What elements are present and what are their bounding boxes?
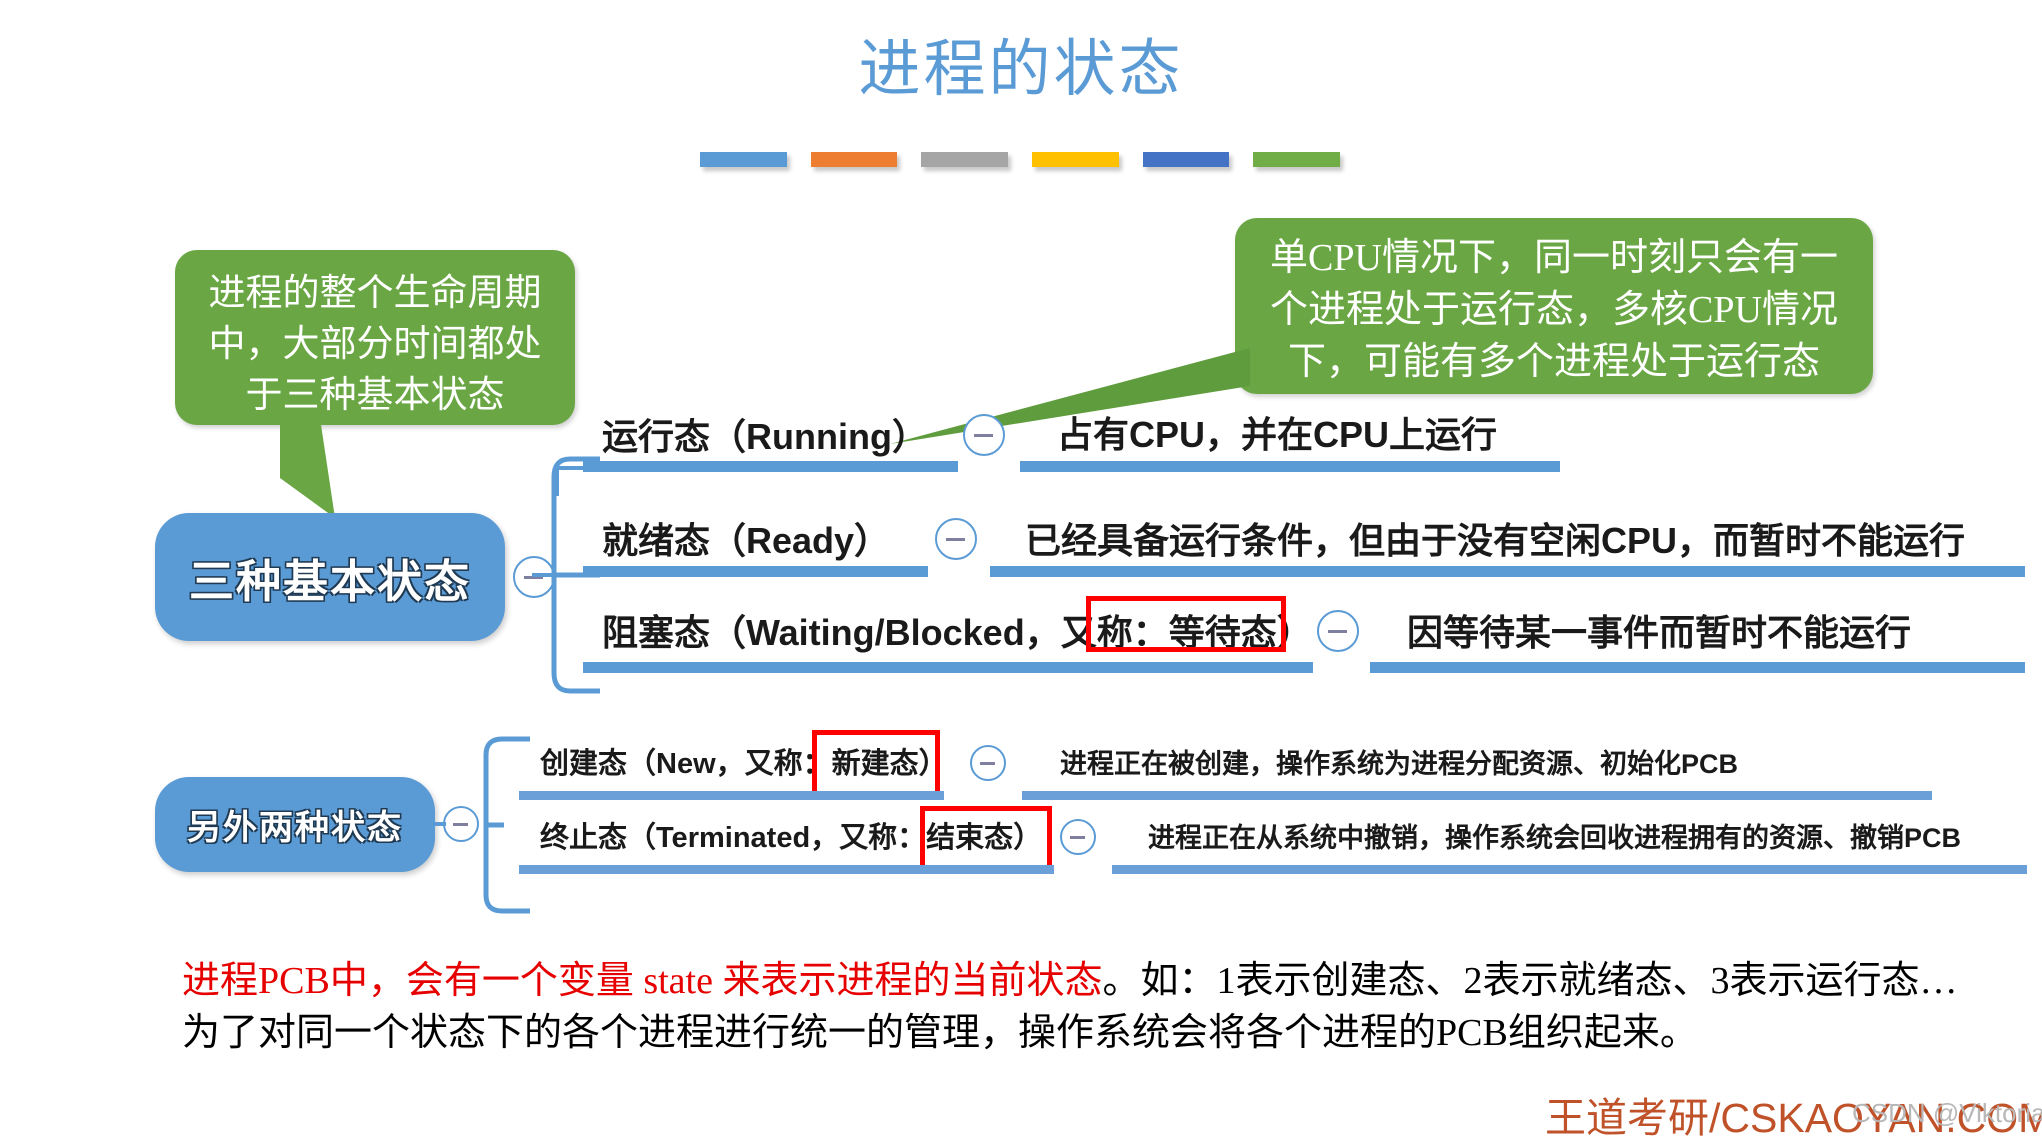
highlight-box-terminated-alias xyxy=(920,806,1052,872)
collapse-minus-icon-running[interactable] xyxy=(963,414,1005,456)
branch-description-blocked: 因等待某一事件而暂时不能运行 xyxy=(1407,604,1911,656)
highlight-box-new-alias xyxy=(812,730,940,796)
branch-underline-terminated-desc xyxy=(1112,865,2027,874)
collapse-minus-icon-blocked[interactable] xyxy=(1317,610,1359,652)
branch-underline-blocked-desc xyxy=(1370,662,2025,673)
branch-description-terminated: 进程正在从系统中撤销，操作系统会回收进程拥有的资源、撤销PCB xyxy=(1148,816,1961,855)
branch-underline-ready xyxy=(583,566,928,577)
bar-orange xyxy=(811,152,898,167)
branch-underline-ready-desc xyxy=(990,566,2025,577)
branch-label-terminated-prefix: 终止态（Terminated，又称： xyxy=(540,822,926,854)
footer-watermark: CSDN @Viktoriae xyxy=(1852,1098,2042,1129)
branch-underline-running-desc xyxy=(1020,461,1560,472)
highlight-box-waiting-alias xyxy=(1086,596,1286,652)
callout-left: 进程的整个生命周期中，大部分时间都处于三种基本状态 xyxy=(175,250,575,425)
root-node-other-two-states[interactable]: 另外两种状态 xyxy=(155,777,435,872)
bar-blue-dark xyxy=(1143,152,1230,167)
branch-underline-new-desc xyxy=(1022,791,1932,800)
branch-underline-blocked xyxy=(583,662,1313,673)
page-title: 进程的状态 xyxy=(0,34,2042,106)
branch-underline-running xyxy=(583,461,958,472)
bar-green xyxy=(1253,152,1340,167)
bottom-note: 进程PCB中，会有一个变量 state 来表示进程的当前状态。如：1表示创建态、… xyxy=(182,955,1982,1059)
slide-canvas: 进程的状态 进程的整个生命周期中，大部分时间都处于三种基本状态 单CPU情况下，… xyxy=(0,0,2042,1142)
branch-label-blocked-prefix: 阻塞态（Waiting/Blocked， xyxy=(602,612,1061,653)
branch-label-ready: 就绪态（Ready） xyxy=(602,512,890,564)
collapse-minus-icon-new[interactable] xyxy=(970,745,1006,781)
branch-stem-section2 xyxy=(430,822,446,826)
branch-connector-section2 xyxy=(470,735,540,915)
collapse-minus-icon-terminated[interactable] xyxy=(1060,819,1096,855)
branch-label-running: 运行态（Running） xyxy=(602,408,928,460)
branch-label-new-prefix: 创建态（New，又称： xyxy=(540,748,832,780)
root-node-three-basic-states[interactable]: 三种基本状态 xyxy=(155,513,505,641)
collapse-minus-icon-ready[interactable] xyxy=(935,518,977,560)
bottom-note-line1-red: 进程PCB中，会有一个变量 state 来表示进程的当前状态 xyxy=(182,960,1102,1002)
branch-underline-terminated xyxy=(519,865,1054,874)
bottom-note-line2: 为了对同一个状态下的各个进程进行统一的管理，操作系统会将各个进程的PCB组织起来… xyxy=(182,1012,1698,1054)
branch-description-running: 占有CPU，并在CPU上运行 xyxy=(1057,406,1497,458)
bar-yellow xyxy=(1032,152,1119,167)
branch-description-new: 进程正在被创建，操作系统为进程分配资源、初始化PCB xyxy=(1060,742,1738,781)
bottom-note-line1-black: 。如：1表示创建态、2表示就绪态、3表示运行态… xyxy=(1102,960,1957,1002)
callout-left-tail-icon xyxy=(280,418,400,523)
callout-right: 单CPU情况下，同一时刻只会有一个进程处于运行态，多核CPU情况下，可能有多个进… xyxy=(1235,218,1873,394)
decorative-bars xyxy=(700,152,1340,170)
bar-blue-light xyxy=(700,152,787,167)
branch-description-ready: 已经具备运行条件，但由于没有空闲CPU，而暂时不能运行 xyxy=(1025,512,1965,564)
branch-stem-section1 xyxy=(532,573,554,577)
bar-gray xyxy=(921,152,1008,167)
branch-underline-new xyxy=(519,791,944,800)
